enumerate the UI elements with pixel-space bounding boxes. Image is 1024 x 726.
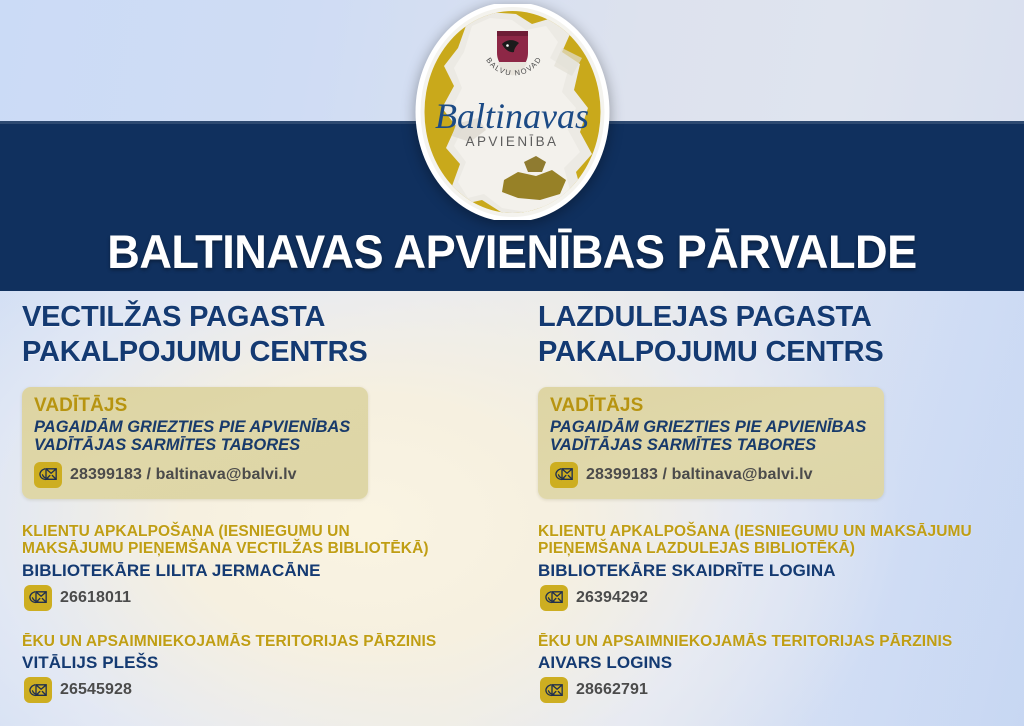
phone-envelope-icon xyxy=(24,677,52,703)
service-contact-text: 26618011 xyxy=(60,589,131,607)
leader-role-label: VADĪTĀJS xyxy=(34,396,356,417)
leader-role-label: VADĪTĀJS xyxy=(550,396,872,417)
service-person: VITĀLIJS PLEŠS xyxy=(22,653,498,673)
service-contact-row[interactable]: 28662791 xyxy=(540,677,1010,703)
service-block-buildings-manager: ĒKU UN APSAIMNIEKOJAMĀS TERITORIJAS PĀRZ… xyxy=(22,633,498,703)
service-contact-text: 28662791 xyxy=(576,681,648,699)
service-label: KLIENTU APKALPOŠANA (IESNIEGUMU UN MAKSĀ… xyxy=(22,523,498,558)
leader-note: PAGAIDĀM GRIEZTIES PIE APVIENĪBAS VADĪTĀ… xyxy=(550,418,872,455)
phone-envelope-icon xyxy=(34,462,62,488)
leader-contact-text: 28399183 / baltinava@balvi.lv xyxy=(70,466,297,484)
svg-text:Baltinavas: Baltinavas xyxy=(435,96,589,136)
service-label: KLIENTU APKALPOŠANA (IESNIEGUMU UN MAKSĀ… xyxy=(538,523,1010,558)
service-person: BIBLIOTEKĀRE SKAIDRĪTE LOGINA xyxy=(538,561,1010,581)
service-contact-row[interactable]: 26545928 xyxy=(24,677,498,703)
service-contact-text: 26394292 xyxy=(576,589,648,607)
baltinava-logo: BALVU NOVADS Baltinavas APVIENĪBA xyxy=(412,4,613,220)
phone-envelope-icon xyxy=(540,677,568,703)
phone-envelope-icon xyxy=(550,462,578,488)
poster-root: BALVU NOVADS Baltinavas APVIENĪBA BALTIN… xyxy=(0,0,1024,726)
leader-note: PAGAIDĀM GRIEZTIES PIE APVIENĪBAS VADĪTĀ… xyxy=(34,418,356,455)
leader-card: VADĪTĀJS PAGAIDĀM GRIEZTIES PIE APVIENĪB… xyxy=(538,387,884,499)
leader-contact-row[interactable]: 28399183 / baltinava@balvi.lv xyxy=(550,462,872,488)
svg-text:APVIENĪBA: APVIENĪBA xyxy=(466,134,559,149)
leader-contact-row[interactable]: 28399183 / baltinava@balvi.lv xyxy=(34,462,356,488)
leader-contact-text: 28399183 / baltinava@balvi.lv xyxy=(586,466,813,484)
service-block-customer-service: KLIENTU APKALPOŠANA (IESNIEGUMU UN MAKSĀ… xyxy=(22,523,498,611)
column-vectilzas: VECTILŽAS PAGASTA PAKALPOJUMU CENTRS VAD… xyxy=(0,300,512,703)
service-contact-row[interactable]: 26618011 xyxy=(24,585,498,611)
service-label: ĒKU UN APSAIMNIEKOJAMĀS TERITORIJAS PĀRZ… xyxy=(22,633,498,650)
leader-card: VADĪTĀJS PAGAIDĀM GRIEZTIES PIE APVIENĪB… xyxy=(22,387,368,499)
service-person: BIBLIOTEKĀRE LILITA JERMACĀNE xyxy=(22,561,498,581)
service-centers-columns: VECTILŽAS PAGASTA PAKALPOJUMU CENTRS VAD… xyxy=(0,300,1024,703)
page-title: BALTINAVAS APVIENĪBAS PĀRVALDE xyxy=(20,228,1003,275)
service-contact-row[interactable]: 26394292 xyxy=(540,585,1010,611)
service-block-customer-service: KLIENTU APKALPOŠANA (IESNIEGUMU UN MAKSĀ… xyxy=(538,523,1010,611)
service-block-buildings-manager: ĒKU UN APSAIMNIEKOJAMĀS TERITORIJAS PĀRZ… xyxy=(538,633,1010,703)
service-label: ĒKU UN APSAIMNIEKOJAMĀS TERITORIJAS PĀRZ… xyxy=(538,633,1010,650)
phone-envelope-icon xyxy=(24,585,52,611)
column-title: LAZDULEJAS PAGASTA PAKALPOJUMU CENTRS xyxy=(538,300,1010,371)
phone-envelope-icon xyxy=(540,585,568,611)
column-title: VECTILŽAS PAGASTA PAKALPOJUMU CENTRS xyxy=(22,300,498,371)
service-contact-text: 26545928 xyxy=(60,681,132,699)
service-person: AIVARS LOGINS xyxy=(538,653,1010,673)
column-lazdulejas: LAZDULEJAS PAGASTA PAKALPOJUMU CENTRS VA… xyxy=(512,300,1024,703)
